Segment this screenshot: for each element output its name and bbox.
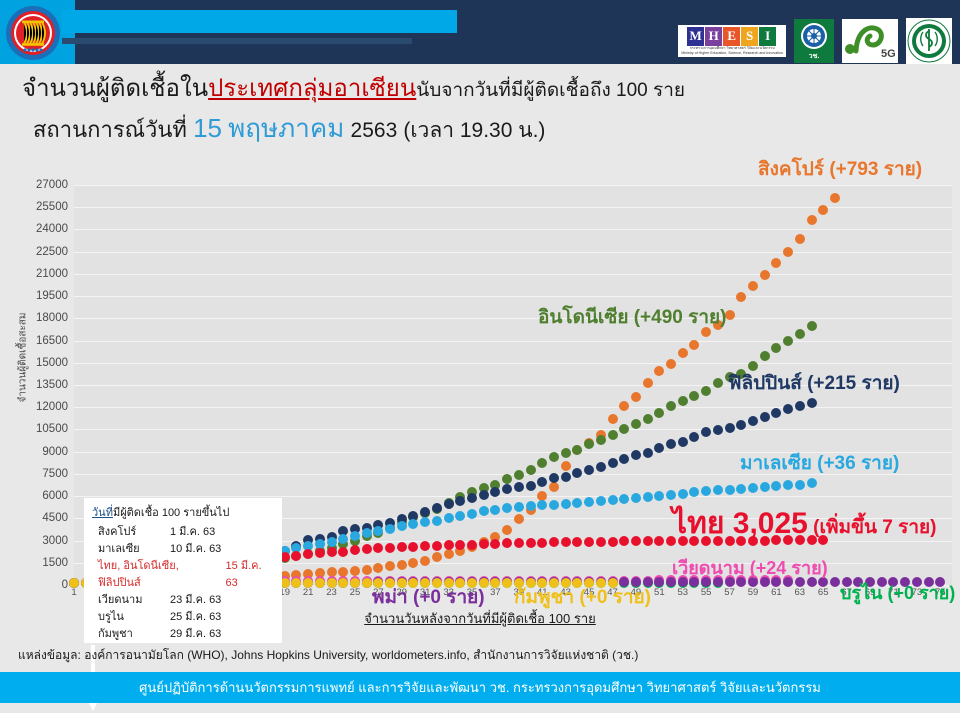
annotation-thailand-delta: (เพิ่มขึ้น 7 ราย) [808, 517, 937, 538]
legend-heading: วันที่มีผู้ติดเชื้อ 100 รายขึ้นไป [92, 503, 274, 521]
mhesi-letter-e: E [723, 27, 740, 46]
data-point-singapore [748, 281, 758, 291]
legend-country-name: สิงคโปร์ [92, 524, 170, 541]
data-point-indonesia [771, 343, 781, 353]
data-point-thailand [643, 536, 653, 546]
data-point-thailand [315, 548, 325, 558]
data-point-thailand [490, 539, 500, 549]
data-point-indonesia [549, 452, 559, 462]
data-point-thailand [561, 537, 571, 547]
data-point-indonesia [561, 448, 571, 458]
data-point-singapore [408, 558, 418, 568]
situation-month: พฤษภาคม [228, 113, 344, 143]
data-point-thailand [455, 540, 465, 550]
gridline [74, 318, 952, 319]
data-point-malaysia [420, 517, 430, 527]
y-tick-label: 6000 [8, 490, 68, 502]
mhesi-logo: M H E S I กระทรวงการอุดมศึกษา วิทยาศาสตร… [678, 25, 786, 58]
onset-dates-legend-box: วันที่มีผู้ติดเชื้อ 100 รายขึ้นไป สิงคโป… [84, 498, 282, 643]
situation-day: 15 [193, 113, 222, 143]
data-point-indonesia [666, 401, 676, 411]
data-point-malaysia [748, 483, 758, 493]
data-point-indonesia [701, 386, 711, 396]
header-bar: M H E S I กระทรวงการอุดมศึกษา วิทยาศาสตร… [0, 0, 960, 64]
data-point-philippines [725, 423, 735, 433]
data-point-philippines [701, 427, 711, 437]
data-point-philippines [561, 472, 571, 482]
data-point-thailand [467, 540, 477, 550]
data-point-philippines [420, 507, 430, 517]
y-tick-label: 4500 [8, 512, 68, 524]
annotation-indonesia: อินโดนีเซีย (+490 ราย) [538, 302, 726, 332]
data-point-singapore [654, 366, 664, 376]
data-point-indonesia [713, 378, 723, 388]
data-point-philippines [643, 448, 653, 458]
annotation-malaysia: มาเลเซีย (+36 ราย) [740, 448, 899, 478]
legend-row: กัมพูชา29 มี.ค. 63 [92, 626, 274, 643]
data-point-philippines [748, 416, 758, 426]
data-point-malaysia [467, 509, 477, 519]
legend-country-name: บรูไน [92, 609, 170, 626]
data-point-indonesia [584, 439, 594, 449]
header-dark-rule [62, 38, 412, 44]
legend-country-name: กัมพูชา [92, 626, 170, 643]
data-point-philippines [572, 468, 582, 478]
data-point-malaysia [362, 528, 372, 538]
gridline [74, 185, 952, 186]
asean-covid-cumulative-cases-chart: 0150030004500600075009000105001200013500… [0, 150, 960, 640]
data-point-thailand [537, 538, 547, 548]
data-point-thailand [303, 549, 313, 559]
data-point-malaysia [526, 501, 536, 511]
legend-onset-date: 1 มี.ค. 63 [170, 524, 215, 541]
data-point-philippines [537, 477, 547, 487]
legend-onset-date: 15 มี.ค. 63 [226, 558, 274, 592]
data-point-malaysia [760, 482, 770, 492]
x-tick-label: 25 [350, 587, 361, 598]
data-point-thailand [338, 547, 348, 557]
data-point-malaysia [666, 490, 676, 500]
data-point-thailand [350, 545, 360, 555]
data-point-thailand [502, 538, 512, 548]
data-point-singapore [549, 482, 559, 492]
situation-time: (เวลา 19.30 น.) [403, 119, 545, 142]
asean-emblem-icon [4, 4, 62, 62]
svg-text:5G: 5G [881, 48, 896, 60]
data-point-thailand [584, 537, 594, 547]
title-highlight-asean: ประเทศกลุ่มอาเซียน [208, 75, 416, 102]
data-point-philippines [526, 481, 536, 491]
data-point-philippines [502, 484, 512, 494]
data-point-thailand [572, 537, 582, 547]
data-point-philippines [666, 439, 676, 449]
data-point-indonesia [514, 470, 524, 480]
gridline [74, 496, 952, 497]
data-point-indonesia [654, 408, 664, 418]
annotation-thailand-label: ไทย 3,025 [672, 507, 808, 540]
data-point-singapore [760, 270, 770, 280]
data-point-philippines [490, 487, 500, 497]
annotation-vietnam: เวียดนาม (+24 ราย) [672, 553, 828, 582]
x-tick-label: 23 [326, 587, 337, 598]
mhesi-letter-m: M [687, 27, 704, 46]
gridline [74, 252, 952, 253]
title-part-b: นับจากวันที่มีผู้ติดเชื้อถึง 100 ราย [416, 80, 685, 101]
data-point-philippines [771, 408, 781, 418]
legend-onset-date: 10 มี.ค. 63 [170, 541, 221, 558]
partner-logos: M H E S I กระทรวงการอุดมศึกษา วิทยาศาสตร… [678, 18, 952, 64]
data-point-philippines [689, 432, 699, 442]
data-point-thailand [444, 540, 454, 550]
data-point-singapore [432, 552, 442, 562]
annotation-philippines: ฟิลิปปินส์ (+215 ราย) [728, 368, 900, 398]
page-title-line2: สถานการณ์วันที่ 15 พฤษภาคม 2563 (เวลา 19… [33, 108, 545, 149]
nrct-logo: วช. [794, 19, 834, 63]
legend-onset-date: 29 มี.ค. 63 [170, 626, 221, 643]
data-point-singapore [385, 561, 395, 571]
data-point-malaysia [490, 505, 500, 515]
data-point-malaysia [397, 521, 407, 531]
data-point-malaysia [689, 487, 699, 497]
data-point-philippines [584, 465, 594, 475]
data-point-philippines [432, 503, 442, 513]
data-point-thailand [479, 539, 489, 549]
source-note: แหล่งข้อมูล: องค์การอนามัยโลก (WHO), Joh… [18, 646, 638, 665]
title-part-a: จำนวนผู้ติดเชื้อใน [22, 75, 208, 102]
data-point-philippines [678, 437, 688, 447]
data-point-philippines [619, 454, 629, 464]
legend-country-name: ไทย, อินโดนีเซีย, ฟิลิปปินส์ [92, 558, 226, 592]
data-point-singapore [397, 560, 407, 570]
y-tick-label: 24000 [8, 223, 68, 235]
wch-5g-logo: 5G [842, 19, 898, 63]
data-point-thailand [596, 537, 606, 547]
data-point-singapore [689, 340, 699, 350]
data-point-philippines [760, 412, 770, 422]
data-point-philippines [479, 490, 489, 500]
x-tick-label: 55 [701, 587, 712, 598]
data-point-myanmar [654, 577, 664, 587]
mhesi-letter-s: S [741, 27, 758, 46]
data-point-malaysia [654, 491, 664, 501]
y-axis-title: จำนวนผู้ติดเชื้อสะสม [16, 283, 31, 433]
data-point-indonesia [608, 430, 618, 440]
data-point-singapore [795, 234, 805, 244]
situation-label: สถานการณ์วันที่ [33, 117, 187, 142]
data-point-indonesia [689, 391, 699, 401]
nrct-label: วช. [809, 51, 820, 62]
legend-heading-rest: มีผู้ติดเชื้อ 100 รายขึ้นไป [113, 507, 229, 519]
gridline [74, 296, 952, 297]
data-point-indonesia [760, 351, 770, 361]
data-point-indonesia [783, 336, 793, 346]
data-point-malaysia [608, 495, 618, 505]
data-point-singapore [771, 258, 781, 268]
data-point-thailand [408, 542, 418, 552]
data-point-malaysia [432, 516, 442, 526]
data-point-thailand [385, 543, 395, 553]
data-point-malaysia [385, 524, 395, 534]
annotation-singapore: สิงคโปร์ (+793 ราย) [758, 154, 922, 184]
data-point-thailand [608, 537, 618, 547]
data-point-malaysia [408, 519, 418, 529]
data-point-philippines [654, 443, 664, 453]
data-point-indonesia [643, 414, 653, 424]
y-tick-label: 22500 [8, 246, 68, 258]
data-point-indonesia [526, 465, 536, 475]
data-point-thailand [654, 536, 664, 546]
data-point-thailand [291, 551, 301, 561]
data-point-malaysia [502, 503, 512, 513]
data-point-malaysia [549, 500, 559, 510]
data-point-singapore [783, 247, 793, 257]
data-point-philippines [549, 473, 559, 483]
y-tick-label: 27000 [8, 179, 68, 191]
x-tick-label: 53 [677, 587, 688, 598]
data-point-malaysia [631, 493, 641, 503]
data-point-malaysia [771, 481, 781, 491]
annotation-indonesia-label: อินโดนีเซีย (+490 ราย) [538, 307, 726, 328]
data-point-indonesia [619, 424, 629, 434]
data-point-thailand [432, 541, 442, 551]
x-tick-label: 65 [818, 587, 829, 598]
data-point-malaysia [713, 485, 723, 495]
legend-heading-underlined: วันที่ [92, 507, 113, 519]
data-point-malaysia [725, 485, 735, 495]
data-point-thailand [397, 542, 407, 552]
annotation-philippines-label: ฟิลิปปินส์ (+215 ราย) [728, 373, 900, 394]
mhesi-subtitle-en: Ministry of Higher Education, Science, R… [681, 51, 783, 56]
data-point-malaysia [572, 498, 582, 508]
data-point-philippines [713, 425, 723, 435]
data-point-malaysia [678, 489, 688, 499]
data-point-indonesia [502, 474, 512, 484]
data-point-philippines [514, 482, 524, 492]
data-point-philippines [467, 493, 477, 503]
data-point-singapore [643, 378, 653, 388]
data-point-thailand [327, 547, 337, 557]
data-point-thailand [549, 537, 559, 547]
annotation-singapore-label: สิงคโปร์ (+793 ราย) [758, 159, 922, 180]
legend-row: มาเลเซีย10 มี.ค. 63 [92, 541, 274, 558]
data-point-singapore [362, 565, 372, 575]
data-point-singapore [502, 525, 512, 535]
annotation-myanmar: พม่า (+0 ราย) [372, 582, 485, 612]
data-point-philippines [444, 499, 454, 509]
legend-row: สิงคโปร์1 มี.ค. 63 [92, 524, 274, 541]
x-tick-label: 59 [748, 587, 759, 598]
data-point-philippines [795, 401, 805, 411]
data-point-philippines [807, 398, 817, 408]
legend-onset-date: 25 มี.ค. 63 [170, 609, 221, 626]
data-point-malaysia [807, 478, 817, 488]
y-axis-labels: 0150030004500600075009000105001200013500… [0, 185, 68, 585]
x-tick-label: 61 [771, 587, 782, 598]
data-point-indonesia [678, 396, 688, 406]
data-point-philippines [455, 496, 465, 506]
data-point-malaysia [327, 537, 337, 547]
legend-country-name: เวียดนาม [92, 592, 170, 609]
gridline [74, 407, 952, 408]
gridline [74, 429, 952, 430]
data-point-thailand [526, 538, 536, 548]
x-tick-label: 63 [795, 587, 806, 598]
annotation-malaysia-label: มาเลเซีย (+36 ราย) [740, 453, 899, 474]
x-tick-label: 37 [490, 587, 501, 598]
header-cyan-bar [62, 10, 457, 33]
data-point-singapore [350, 566, 360, 576]
data-point-singapore [678, 348, 688, 358]
annotation-thailand: ไทย 3,025 (เพิ่มขึ้น 7 ราย) [672, 500, 936, 547]
data-point-singapore [807, 215, 817, 225]
y-tick-label: 7500 [8, 468, 68, 480]
situation-year: 2563 [351, 119, 398, 142]
x-tick-label: 1 [71, 587, 76, 598]
data-point-singapore [631, 392, 641, 402]
data-point-malaysia [561, 499, 571, 509]
mhesi-letters: M H E S I [687, 27, 777, 46]
annotation-myanmar-label: พม่า (+0 ราย) [372, 587, 485, 608]
data-point-malaysia [455, 511, 465, 521]
footer-bar: ศูนย์ปฏิบัติการด้านนวัตกรรมการแพทย์ และก… [0, 672, 960, 703]
gridline [74, 229, 952, 230]
data-point-malaysia [514, 502, 524, 512]
data-point-indonesia [807, 321, 817, 331]
annotation-brunei: บรูไน (+0 ราย) [840, 578, 955, 607]
legend-onset-date: 23 มี.ค. 63 [170, 592, 221, 609]
data-point-malaysia [619, 494, 629, 504]
data-point-thailand [362, 544, 372, 554]
data-point-thailand [514, 538, 524, 548]
y-tick-label: 1500 [8, 557, 68, 569]
data-point-malaysia [643, 492, 653, 502]
data-point-thailand [373, 543, 383, 553]
annotation-vietnam-label: เวียดนาม (+24 ราย) [672, 558, 828, 578]
data-point-singapore [830, 193, 840, 203]
data-point-singapore [561, 461, 571, 471]
data-point-singapore [736, 292, 746, 302]
y-tick-label: 21000 [8, 268, 68, 280]
y-tick-label: 25500 [8, 201, 68, 213]
x-tick-label: 51 [654, 587, 665, 598]
data-point-singapore [818, 205, 828, 215]
data-point-malaysia [338, 534, 348, 544]
data-point-myanmar [830, 577, 840, 587]
data-point-indonesia [537, 458, 547, 468]
data-point-thailand [420, 541, 430, 551]
y-tick-label: 3000 [8, 535, 68, 547]
data-point-indonesia [795, 329, 805, 339]
page-title-line1: จำนวนผู้ติดเชื้อในประเทศกลุ่มอาเซียนนับจ… [22, 68, 685, 107]
data-point-singapore [608, 414, 618, 424]
data-point-indonesia [631, 419, 641, 429]
legend-row: บรูไน25 มี.ค. 63 [92, 609, 274, 626]
data-point-singapore [666, 359, 676, 369]
y-tick-label: 0 [8, 579, 68, 591]
data-point-philippines [608, 458, 618, 468]
data-point-singapore [373, 563, 383, 573]
gridline [74, 274, 952, 275]
legend-rows: สิงคโปร์1 มี.ค. 63มาเลเซีย10 มี.ค. 63ไทย… [92, 524, 274, 643]
data-point-singapore [619, 401, 629, 411]
x-tick-label: 21 [303, 587, 314, 598]
legend-country-name: มาเลเซีย [92, 541, 170, 558]
data-point-indonesia [596, 435, 606, 445]
x-tick-label: 57 [724, 587, 735, 598]
data-point-indonesia [572, 445, 582, 455]
data-point-malaysia [736, 484, 746, 494]
legend-row: เวียดนาม23 มี.ค. 63 [92, 592, 274, 609]
data-point-malaysia [783, 480, 793, 490]
data-point-malaysia [373, 526, 383, 536]
annotation-brunei-label: บรูไน (+0 ราย) [840, 583, 955, 603]
data-point-singapore [514, 514, 524, 524]
data-point-malaysia [584, 497, 594, 507]
annotation-cambodia: กัมพูชา (+0 ราย) [514, 582, 651, 612]
data-point-philippines [736, 420, 746, 430]
data-point-malaysia [596, 496, 606, 506]
legend-row: ไทย, อินโดนีเซีย, ฟิลิปปินส์15 มี.ค. 63 [92, 558, 274, 592]
annotation-cambodia-label: กัมพูชา (+0 ราย) [514, 587, 651, 608]
data-point-philippines [596, 462, 606, 472]
data-point-malaysia [350, 531, 360, 541]
gridline [74, 363, 952, 364]
data-point-malaysia [537, 500, 547, 510]
mhesi-letter-i: I [759, 27, 776, 46]
data-point-malaysia [795, 480, 805, 490]
mhesi-letter-h: H [705, 27, 722, 46]
data-point-malaysia [479, 506, 489, 516]
dept-disease-control-logo [906, 18, 952, 64]
data-point-philippines [631, 450, 641, 460]
data-point-malaysia [701, 486, 711, 496]
data-point-thailand [631, 536, 641, 546]
data-point-singapore [420, 556, 430, 566]
data-point-malaysia [444, 513, 454, 523]
gridline [74, 341, 952, 342]
y-tick-label: 9000 [8, 446, 68, 458]
data-point-thailand [619, 536, 629, 546]
data-point-philippines [783, 404, 793, 414]
footer-organization: ศูนย์ปฏิบัติการด้านนวัตกรรมการแพทย์ และก… [0, 672, 960, 703]
